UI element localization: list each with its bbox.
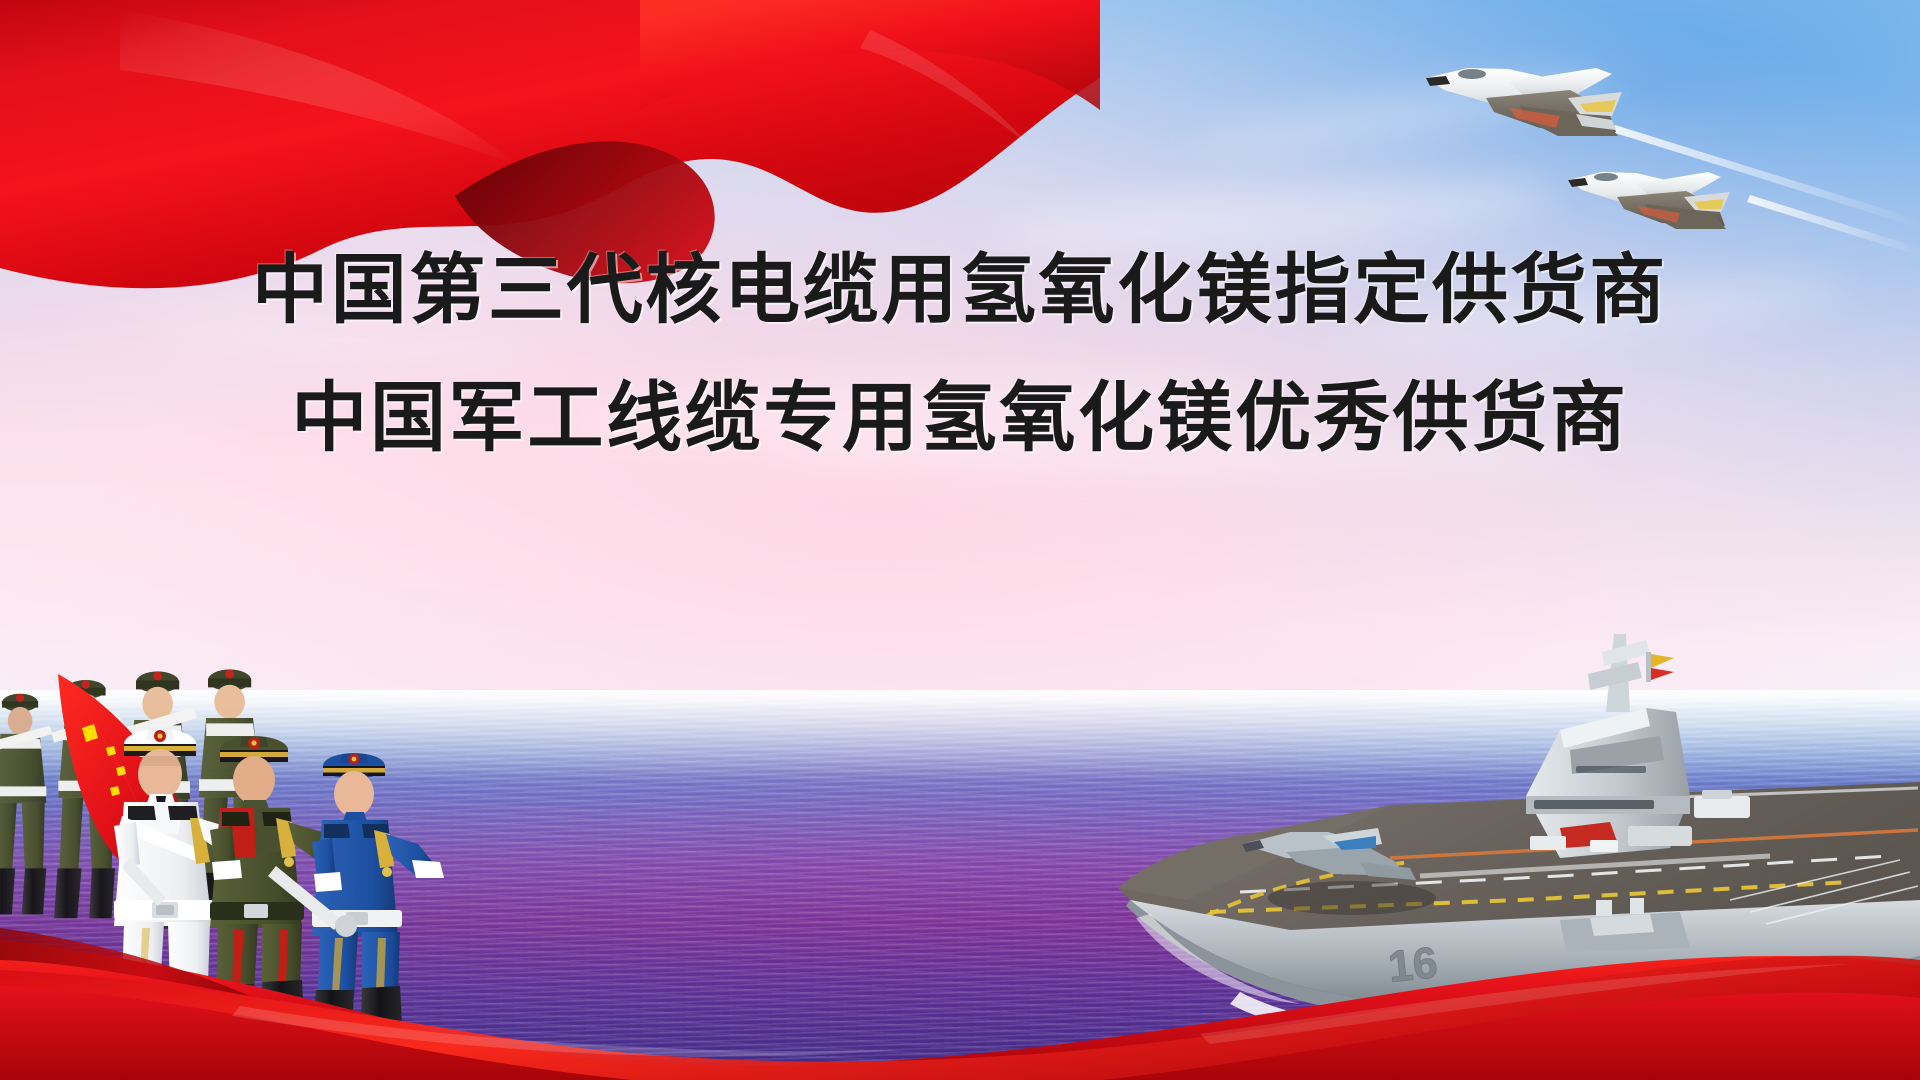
red-ribbon-bottom <box>0 820 1920 1080</box>
fighter-jets-group <box>1390 20 1920 260</box>
fighter-jet-1 <box>1426 68 1622 136</box>
banner-canvas: 16 <box>0 0 1920 1080</box>
red-flag-top <box>0 0 1100 330</box>
fighter-jet-2 <box>1568 172 1730 229</box>
